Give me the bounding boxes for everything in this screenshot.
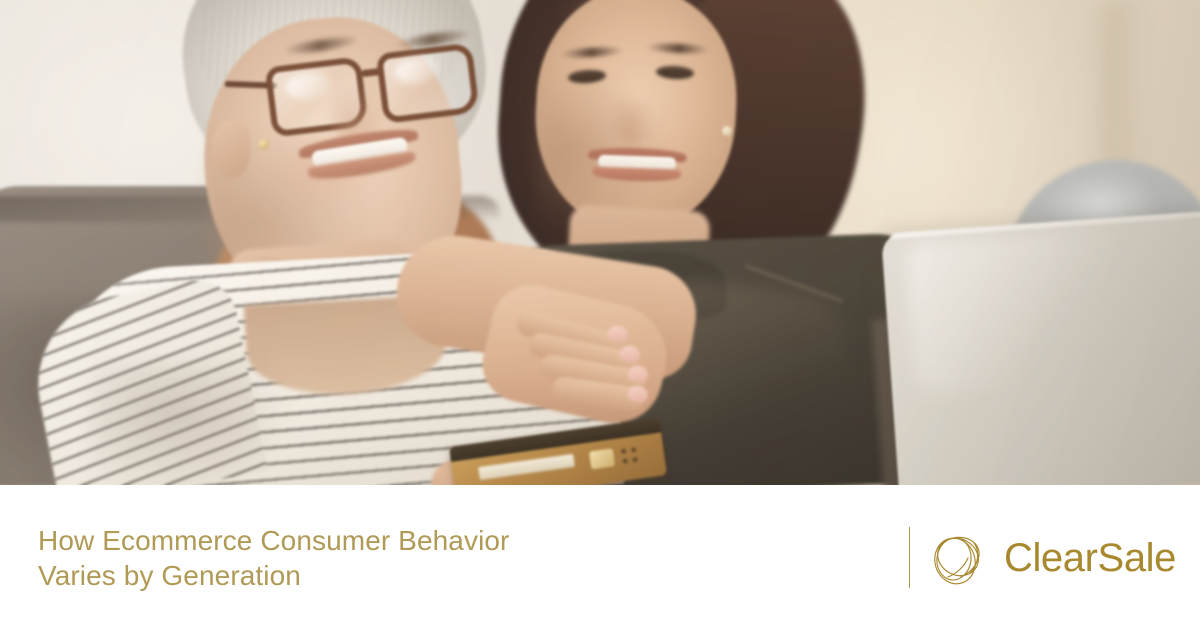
social-share-banner: How Ecommerce Consumer Behavior Varies b…	[0, 0, 1200, 630]
clearsale-scribble-loop-icon	[928, 527, 986, 589]
brand-lockup[interactable]: ClearSale	[909, 527, 1176, 589]
glasses-lens-right	[376, 43, 480, 124]
younger-woman-nose	[612, 92, 654, 146]
shirt-fold-shadow	[90, 360, 290, 485]
older-woman-earring	[258, 139, 269, 150]
younger-woman-earring	[722, 126, 732, 136]
hero-photo	[0, 0, 1200, 485]
brand-wordmark: ClearSale	[1004, 538, 1176, 578]
banner-title: How Ecommerce Consumer Behavior Varies b…	[38, 523, 510, 593]
older-woman-ear	[212, 120, 250, 178]
footer-bar: How Ecommerce Consumer Behavior Varies b…	[0, 485, 1200, 630]
credit-card-chip	[589, 448, 615, 469]
credit-card-detail-dot	[632, 457, 638, 463]
lower-lip	[592, 166, 680, 182]
credit-card-detail-dot	[631, 447, 637, 453]
credit-card-signature-strip	[478, 454, 575, 480]
vertical-divider-icon	[909, 527, 910, 588]
laptop-sheen	[905, 229, 1115, 393]
credit-card-detail-dot	[621, 448, 627, 454]
credit-card-detail-dot	[622, 458, 628, 464]
younger-woman-smile	[587, 146, 686, 183]
